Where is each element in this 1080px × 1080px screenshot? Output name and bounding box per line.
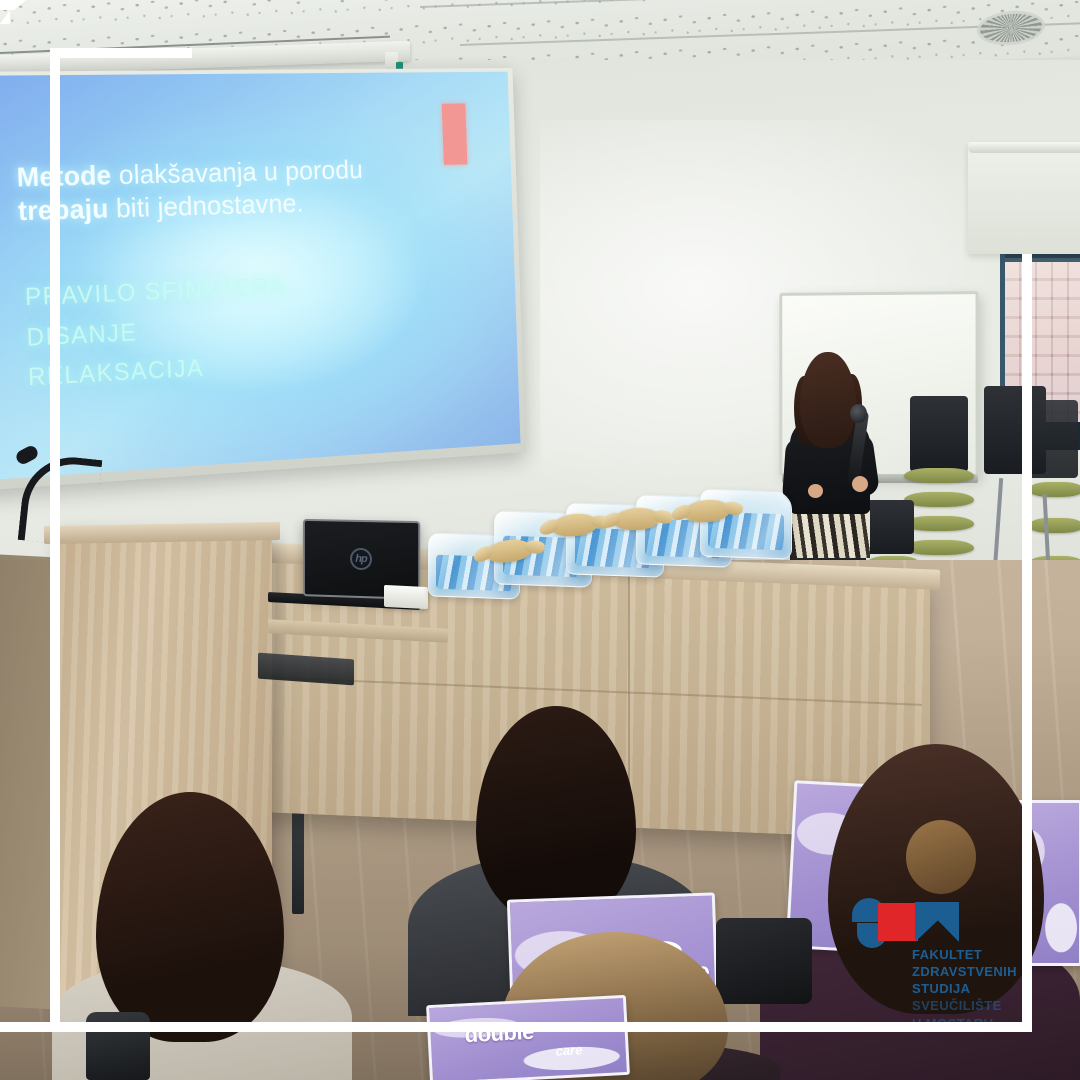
presentation-slide: Metode olakšavanja u porodu trebaju biti… bbox=[0, 72, 520, 482]
logo-line-2: ZDRAVSTVENIH bbox=[912, 963, 1042, 980]
slide-title-line2-strong: trebaju bbox=[17, 193, 109, 226]
chair-seat bbox=[904, 468, 974, 483]
slide-title-strong: Metode bbox=[16, 160, 112, 193]
logo-mark-sum bbox=[852, 898, 958, 948]
slide-accent-rectangle bbox=[442, 103, 468, 164]
speaker-left-hand bbox=[808, 484, 823, 498]
projection-screen: Metode olakšavanja u porodu trebaju biti… bbox=[0, 68, 526, 492]
audience-hair-bun bbox=[906, 820, 976, 894]
window-roller-blind bbox=[968, 142, 1080, 254]
photo-canvas: Metode olakšavanja u porodu trebaju biti… bbox=[0, 0, 1080, 1080]
lectern-side-panel bbox=[0, 554, 58, 1009]
slide-title-rest: olakšavanja u porodu bbox=[111, 155, 364, 191]
logo-m-shape bbox=[915, 902, 959, 942]
slide-bullet-list: PRAVILO SFINKTERA DISANJE RELAKSACIJA bbox=[24, 261, 447, 397]
speaker-hair bbox=[800, 352, 856, 448]
hp-logo-icon: hp bbox=[350, 548, 372, 571]
chair-seat bbox=[1028, 518, 1080, 533]
slide-title-line2-rest: biti jednostavne. bbox=[108, 188, 304, 223]
logo-line-3: STUDIJA bbox=[912, 980, 1042, 997]
gooseneck-microphone bbox=[22, 452, 108, 544]
chair-back bbox=[910, 396, 968, 472]
desk-item-box bbox=[384, 585, 428, 609]
chair-seat bbox=[1028, 482, 1080, 497]
chair-back bbox=[1024, 400, 1078, 478]
table-leg bbox=[292, 806, 304, 914]
speaker-right-hand bbox=[852, 476, 868, 492]
bag-product-word: double bbox=[464, 1019, 534, 1049]
logo-line-5: U MOSTARU bbox=[912, 1015, 1042, 1032]
university-logo: FAKULTET ZDRAVSTVENIH STUDIJA SVEUČILIŠT… bbox=[852, 898, 1042, 1024]
logo-red-square bbox=[878, 903, 918, 941]
microphone-head-icon bbox=[850, 404, 867, 423]
microphone-neck bbox=[18, 452, 103, 547]
speaker-skirt bbox=[792, 508, 870, 558]
handbag bbox=[716, 918, 812, 1004]
slide-title: Metode olakšavanja u porodu trebaju biti… bbox=[16, 152, 428, 228]
gift-bag-violeta: double care bbox=[426, 995, 630, 1080]
foreground-object bbox=[86, 1012, 150, 1080]
logo-line-4: SVEUČILIŠTE bbox=[912, 997, 1042, 1014]
logo-line-1: FAKULTET bbox=[912, 946, 1042, 963]
bag-product-sub: care bbox=[555, 1042, 582, 1058]
blind-rod bbox=[968, 142, 1080, 153]
logo-text-block: FAKULTET ZDRAVSTVENIH STUDIJA SVEUČILIŠT… bbox=[912, 946, 1042, 1032]
